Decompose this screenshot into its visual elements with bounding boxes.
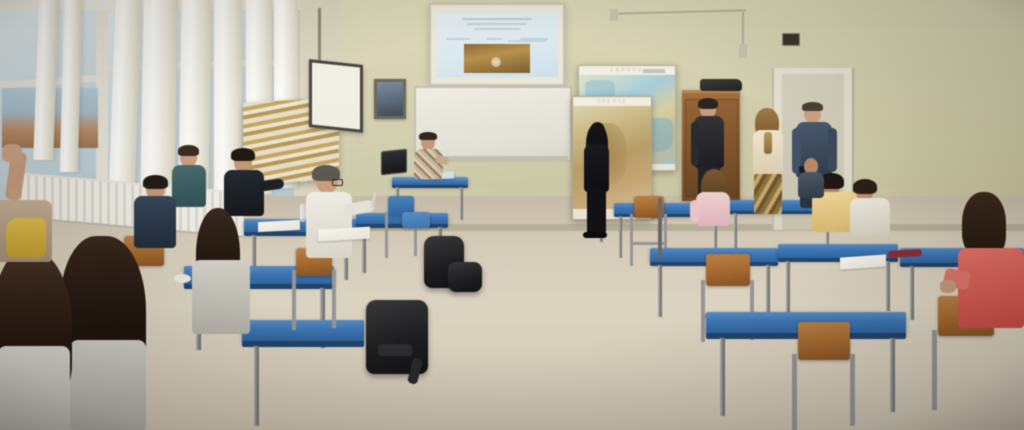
laptop[interactable] (381, 149, 407, 176)
slide-caption-line (446, 38, 470, 40)
hair-tie (174, 274, 191, 283)
backpack[interactable] (366, 300, 428, 374)
hand (2, 144, 22, 162)
slide-title-line (474, 28, 520, 30)
backpack[interactable] (448, 262, 482, 292)
presenter-shoe (583, 232, 607, 238)
framed-board (309, 59, 363, 133)
projection-screen (429, 3, 565, 86)
slide-photo-highlight (491, 57, 501, 67)
presentation-slide (436, 13, 558, 77)
conduit-box-right (739, 44, 747, 58)
water-bottle[interactable] (300, 204, 306, 222)
student-yellow-sleeve (6, 218, 46, 258)
woman-necklace (764, 132, 772, 154)
slide-title-line (462, 18, 532, 20)
slide-title-line (467, 23, 527, 25)
slide-footer-line (508, 40, 546, 42)
wall-conduit-drop (742, 12, 744, 48)
exit-sign (782, 33, 800, 46)
hand (940, 280, 956, 293)
slide-caption-line (486, 38, 502, 40)
classroom-scene: ЕВРОПА СРБИЈА (0, 0, 1024, 430)
eyeglasses (332, 179, 343, 186)
conduit-box (610, 9, 618, 21)
map-europe-legend (643, 69, 665, 73)
framed-portrait (374, 79, 406, 119)
bag-on-cabinet (700, 79, 742, 91)
